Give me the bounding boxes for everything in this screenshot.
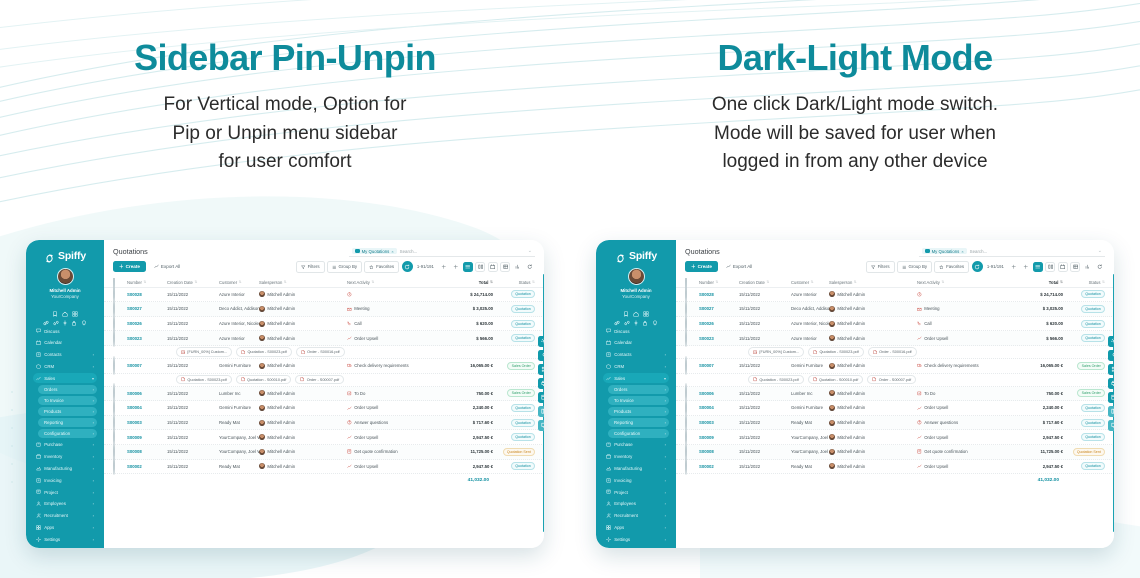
table-row[interactable]: S0000815/11/2022YourCompany, Joel Willis… — [676, 445, 1114, 460]
row-checkbox[interactable] — [113, 357, 127, 375]
cell-salesperson: Mitchell Admin — [829, 363, 917, 369]
table-row[interactable]: S0000715/11/2022Gemini FurnitureMitchell… — [676, 359, 1114, 374]
sidebar-item-settings[interactable]: Settings› — [33, 534, 97, 544]
bulb-icon[interactable] — [652, 313, 658, 319]
sidebar-item-orders[interactable]: Orders› — [38, 385, 97, 394]
table-row[interactable]: S0000415/11/2022Gemini FurnitureMitchell… — [676, 401, 1114, 416]
search-circle-icon-button[interactable] — [1108, 350, 1114, 361]
pivot-view-button[interactable] — [500, 262, 510, 272]
attachment-chip[interactable]: Order - S00007.pdf — [295, 375, 344, 385]
inventory-icon — [36, 454, 41, 459]
sidebar-item-label: Apps — [614, 525, 661, 530]
quick-icons-row-1[interactable] — [31, 304, 99, 310]
sidebar-item-label: Configuration — [44, 431, 90, 436]
cell-number[interactable]: S00004 — [127, 405, 167, 410]
sidebar-item-sales[interactable]: Sales▾ — [33, 373, 97, 383]
sidebar-item-employees[interactable]: Employees› — [33, 499, 97, 509]
floating-toolbar[interactable] — [1108, 336, 1114, 431]
status-badge: Quotation — [511, 462, 535, 470]
cell-number[interactable]: S00004 — [699, 405, 739, 410]
sidebar-item-label: Settings — [44, 537, 89, 542]
search-bar[interactable]: My Quotations×Search...⌄ — [919, 246, 1105, 257]
home-icon[interactable] — [633, 304, 639, 310]
floating-toolbar[interactable] — [538, 336, 544, 431]
cell-status: Quotation — [493, 305, 535, 313]
graph-view-button[interactable] — [1083, 262, 1093, 272]
home-icon[interactable] — [62, 304, 68, 310]
column-header-salesperson[interactable]: Salesperson⇅ — [259, 280, 347, 285]
sidebar-item-recruitment[interactable]: Recruitment› — [603, 511, 669, 521]
grid-icon[interactable] — [643, 304, 649, 310]
layout-icon-button[interactable] — [538, 406, 544, 417]
attachment-chip[interactable]: Quotation - S00023.pdf — [176, 375, 232, 385]
pager-next-button[interactable] — [451, 262, 461, 272]
cell-number[interactable]: S00027 — [699, 306, 739, 311]
column-header-creation-date[interactable]: Creation Date⇅ — [167, 280, 219, 285]
calendar-view-button[interactable] — [1058, 262, 1068, 272]
attachment-chip[interactable]: Quotation - S00010.pdf — [236, 375, 292, 385]
cell-number[interactable]: S00009 — [699, 435, 739, 440]
crm-icon — [606, 364, 611, 369]
cell-next-activity[interactable]: Order Upsell — [917, 464, 1007, 469]
table-row[interactable]: S0002315/11/2022Azure InteriorMitchell A… — [104, 331, 544, 346]
sidebar-item-invoicing[interactable]: Invoicing› — [603, 475, 669, 485]
status-badge: Sales Order — [1077, 389, 1105, 397]
view-tools[interactable]: FiltersGroup ByFavorites1-91/191 — [866, 261, 1105, 273]
sidebar-item-reporting[interactable]: Reporting› — [608, 418, 669, 427]
pager-prev-button[interactable] — [1008, 262, 1018, 272]
search-bar[interactable]: My Quotations×Search...⌄ — [349, 246, 535, 257]
app-screenshot-left[interactable]: SpiffyMitchell AdminYourCompanyDiscussCa… — [26, 240, 544, 548]
cell-customer: Gemini Furniture — [219, 405, 259, 410]
close-icon[interactable]: × — [391, 249, 393, 254]
cell-number[interactable]: S00008 — [699, 449, 739, 454]
cell-next-activity[interactable]: Order Upsell — [917, 405, 1007, 410]
project-icon — [606, 489, 611, 494]
table-row[interactable]: S0000915/11/2022YourCompany, Joel Willis… — [676, 430, 1114, 445]
chevron-right-icon: › — [93, 454, 94, 459]
sidebar-item-label: Products — [44, 409, 90, 414]
pin-icon[interactable] — [62, 313, 68, 319]
chain-icon[interactable] — [624, 313, 630, 319]
bookmark-icon[interactable] — [623, 304, 629, 310]
cell-creation-date: 15/11/2022 — [167, 391, 219, 396]
sidebar-item-inventory[interactable]: Inventory› — [603, 452, 669, 462]
avatar — [829, 321, 835, 327]
table-row[interactable]: S0002715/11/2022Deco Addict, Addison Ols… — [676, 302, 1114, 317]
attachment-chip[interactable]: Quotation - S00010.pdf — [808, 375, 864, 385]
sidebar-item-purchase[interactable]: Purchase› — [603, 440, 669, 450]
sort-icon: ⇅ — [766, 280, 769, 284]
cell-number[interactable]: S00007 — [699, 363, 739, 368]
pager-prev-button[interactable] — [438, 262, 448, 272]
column-header-customer[interactable]: Customer⇅ — [219, 280, 259, 285]
sidebar-menu[interactable]: DiscussCalendarContacts›CRM›Sales▾Orders… — [601, 326, 671, 544]
attachment-chip[interactable]: Quotation - S00023.pdf — [236, 347, 292, 357]
chevron-down-icon[interactable]: ⌄ — [1098, 248, 1102, 254]
cell-next-activity[interactable]: Call — [347, 321, 437, 326]
cell-next-activity[interactable] — [347, 292, 437, 297]
chevron-right-icon: › — [93, 398, 94, 403]
cell-next-activity[interactable]: Order Upsell — [347, 435, 437, 440]
cell-number[interactable]: S00003 — [699, 420, 739, 425]
cell-next-activity[interactable]: Order Upsell — [347, 336, 437, 341]
apps-grid-icon-button[interactable] — [1108, 364, 1114, 375]
avatar — [259, 321, 265, 327]
cell-status: Quotation — [493, 334, 535, 342]
column-header-creation-date[interactable]: Creation Date⇅ — [739, 280, 791, 285]
cell-total: 2,947.50 € — [437, 435, 493, 440]
column-header-customer[interactable]: Customer⇅ — [791, 280, 829, 285]
sidebar-item-crm[interactable]: CRM› — [33, 362, 97, 372]
create-button[interactable]: ＋Create — [113, 261, 146, 272]
view-tools[interactable]: FiltersGroup ByFavorites1-91/191 — [296, 261, 535, 273]
layout-icon-button[interactable] — [1108, 406, 1114, 417]
refresh-button[interactable] — [972, 261, 983, 272]
plus-icon: ＋ — [691, 264, 696, 270]
cell-next-activity[interactable]: Order Upsell — [917, 435, 1007, 440]
cell-next-activity[interactable]: Answer questions — [347, 420, 437, 425]
activity-view-button[interactable] — [1095, 262, 1105, 272]
export-all-button[interactable]: Export All — [150, 262, 184, 272]
table-footer-total-row: 41,032.00 — [104, 474, 544, 486]
table-header-row: Number⇅Creation Date⇅Customer⇅Salesperso… — [104, 278, 544, 288]
quick-icons-row-1[interactable] — [601, 304, 671, 310]
sidebar-item-products[interactable]: Products› — [608, 407, 669, 416]
lock-icon[interactable] — [642, 313, 648, 319]
sidebar-item-configuration[interactable]: Configuration› — [38, 429, 97, 438]
attachment-chip[interactable]: Order - S00007.pdf — [867, 375, 916, 385]
column-header-number[interactable]: Number⇅ — [699, 280, 739, 285]
chevron-right-icon: › — [93, 478, 94, 483]
manufacturing-icon — [606, 466, 611, 471]
chevron-right-icon: › — [93, 525, 94, 530]
sort-icon: ⇅ — [811, 280, 814, 284]
avatar — [829, 405, 835, 411]
sidebar-item-project[interactable]: Project› — [603, 487, 669, 497]
search-input[interactable]: Search... — [970, 249, 988, 254]
close-icon[interactable]: × — [961, 249, 963, 254]
table-row[interactable]: S0000415/11/2022Gemini FurnitureMitchell… — [104, 401, 544, 416]
spiffy-logo-icon — [44, 251, 55, 262]
settings-gear-icon-button[interactable] — [538, 336, 544, 347]
bulb-icon[interactable] — [81, 313, 87, 319]
app-screenshot-right[interactable]: SpiffyMitchell AdminYourCompanyDiscussCa… — [596, 240, 1114, 548]
status-badge: Quotation — [511, 404, 535, 412]
cell-next-activity[interactable]: Call — [917, 321, 1007, 326]
refresh-button[interactable] — [402, 261, 413, 272]
sidebar-item-to-invoice[interactable]: To Invoice› — [608, 396, 669, 405]
attachment-chip[interactable]: Quotation - S00023.pdf — [748, 375, 804, 385]
cell-next-activity[interactable]: Answer questions — [917, 420, 1007, 425]
create-button[interactable]: ＋Create — [685, 261, 718, 272]
link-icon[interactable] — [614, 313, 620, 319]
table-row[interactable]: S0002315/11/2022Azure InteriorMitchell A… — [676, 331, 1114, 346]
group-by-button[interactable]: Group By — [897, 261, 932, 273]
cell-number[interactable]: S00002 — [699, 464, 739, 469]
sidebar-item-configuration[interactable]: Configuration› — [608, 429, 669, 438]
cell-next-activity[interactable]: Check delivery requirements — [917, 363, 1007, 368]
cell-number[interactable]: S00026 — [699, 321, 739, 326]
cell-total: 11,725.00 € — [1007, 449, 1063, 454]
cell-next-activity[interactable]: Check delivery requirements — [347, 363, 437, 368]
sidebar-item-to-invoice[interactable]: To Invoice› — [38, 396, 97, 405]
table-row[interactable]: S0002615/11/2022Azure Interior, Nicole F… — [104, 317, 544, 332]
table-row[interactable]: S0002815/11/2022Azure InteriorMitchell A… — [676, 288, 1114, 303]
sidebar-item-label: Employees — [44, 501, 89, 506]
column-header-total[interactable]: Total⇅ — [1007, 280, 1063, 285]
quick-icons-row-2[interactable] — [31, 313, 99, 319]
pdf-icon — [813, 377, 817, 381]
cell-number[interactable]: S00026 — [127, 321, 167, 326]
window-icon-button[interactable] — [538, 392, 544, 403]
grid-icon[interactable] — [72, 304, 78, 310]
sidebar-item-purchase[interactable]: Purchase› — [33, 440, 97, 450]
filters-button[interactable]: Filters — [296, 261, 325, 273]
cell-customer: Gemini Furniture — [791, 363, 829, 368]
cell-number[interactable]: S00002 — [127, 464, 167, 469]
row-checkbox[interactable] — [685, 329, 699, 347]
cell-creation-date: 15/11/2022 — [167, 405, 219, 410]
table-row[interactable]: S0000215/11/2022Ready MatMitchell AdminO… — [676, 460, 1114, 475]
cell-next-activity[interactable]: Meeting — [917, 306, 1007, 311]
row-checkbox[interactable] — [113, 329, 127, 347]
sidebar-item-sales[interactable]: Sales▾ — [603, 373, 669, 383]
create-button-label: Create — [698, 264, 712, 269]
table-row[interactable]: S0000815/11/2022YourCompany, Joel Willis… — [104, 445, 544, 460]
kanban-view-button[interactable] — [1045, 262, 1055, 272]
quick-icons-row-2[interactable] — [601, 313, 671, 319]
column-header-total[interactable]: Total⇅ — [437, 280, 493, 285]
control-panel-actions: ＋CreateExport AllFiltersGroup ByFavorite… — [676, 257, 1114, 278]
cell-number[interactable]: S00006 — [127, 391, 167, 396]
sidebar-menu[interactable]: DiscussCalendarContacts›CRM›Sales▾Orders… — [31, 326, 99, 544]
control-panel-top: QuotationsMy Quotations×Search...⌄ — [104, 240, 544, 257]
cell-total: 2,947.50 € — [1007, 464, 1063, 469]
column-header-salesperson[interactable]: Salesperson⇅ — [829, 280, 917, 285]
graph-view-button[interactable] — [513, 262, 523, 272]
link-icon[interactable] — [43, 313, 49, 319]
table-row[interactable]: S0000715/11/2022Gemini FurnitureMitchell… — [104, 359, 544, 374]
sidebar-item-crm[interactable]: CRM› — [603, 362, 669, 372]
sidebar-item-label: Project — [614, 490, 661, 495]
sidebar-item-settings[interactable]: Settings› — [603, 534, 669, 544]
status-badge: Quotation — [1081, 320, 1105, 328]
cell-customer: Gemini Furniture — [791, 405, 829, 410]
chat-icon — [36, 328, 41, 333]
sidebar-item-discuss[interactable]: Discuss — [603, 326, 669, 336]
attachment-chip[interactable]: Order - S00016.pdf — [868, 347, 917, 357]
pin-icon[interactable] — [633, 313, 639, 319]
bookmark-icon[interactable] — [52, 304, 58, 310]
sidebar-item-label: Project — [44, 490, 89, 495]
row-checkbox[interactable] — [113, 457, 127, 475]
search-facet-label: My Quotations — [932, 249, 960, 254]
cell-next-activity[interactable]: To Do — [917, 391, 1007, 396]
cell-salesperson: Mitchell Admin — [829, 390, 917, 396]
cell-next-activity[interactable]: Order Upsell — [347, 405, 437, 410]
app-sidebar[interactable]: SpiffyMitchell AdminYourCompanyDiscussCa… — [596, 240, 676, 548]
cell-next-activity[interactable] — [917, 292, 1007, 297]
cell-number[interactable]: S00007 — [127, 363, 167, 368]
cell-number[interactable]: S00023 — [127, 336, 167, 341]
feature-title-right: Dark-Light Mode — [570, 38, 1140, 78]
chevron-right-icon: › — [93, 513, 94, 518]
favorites-button[interactable]: Favorites — [934, 261, 969, 273]
table-row[interactable]: S0002615/11/2022Azure Interior, Nicole F… — [676, 317, 1114, 332]
table-row[interactable]: S0000315/11/2022Ready MatMitchell AdminA… — [676, 416, 1114, 431]
column-header-status[interactable]: Status⇅ — [493, 280, 535, 285]
pager-label: 1-91/191 — [985, 264, 1006, 269]
filters-button[interactable]: Filters — [866, 261, 895, 273]
chain-icon[interactable] — [53, 313, 59, 319]
window-icon-button[interactable] — [1108, 392, 1114, 403]
calendar-icon — [36, 340, 41, 345]
attachment-row: Quotation - S00023.pdfQuotation - S00010… — [676, 374, 1114, 387]
sidebar-item-apps[interactable]: Apps› — [603, 523, 669, 533]
attachment-chip[interactable]: [FURN_00%] Custom... — [176, 347, 232, 357]
cell-creation-date: 15/11/2022 — [739, 435, 791, 440]
cell-number[interactable]: S00027 — [127, 306, 167, 311]
printer-icon-button[interactable] — [1108, 378, 1114, 389]
status-badge: Sales Order — [1077, 362, 1105, 370]
sidebar-item-label: Recruitment — [44, 513, 89, 518]
kanban-view-button[interactable] — [475, 262, 485, 272]
cell-creation-date: 15/11/2022 — [167, 321, 219, 326]
row-checkbox[interactable] — [685, 457, 699, 475]
monitor-icon-button[interactable] — [538, 420, 544, 431]
sidebar-item-recruitment[interactable]: Recruitment› — [33, 511, 97, 521]
cell-creation-date: 15/11/2022 — [167, 292, 219, 297]
calendar-view-button[interactable] — [488, 262, 498, 272]
cell-creation-date: 15/11/2022 — [739, 363, 791, 368]
sidebar-item-inventory[interactable]: Inventory› — [33, 452, 97, 462]
row-checkbox[interactable] — [685, 357, 699, 375]
chevron-right-icon: › — [665, 352, 666, 357]
table-row[interactable]: S0000615/11/2022Lumber IncMitchell Admin… — [676, 387, 1114, 402]
pdf-icon — [181, 377, 185, 381]
attachment-chip[interactable]: [FURN_00%] Custom... — [748, 347, 804, 357]
footer-total: 41,032.00 — [468, 478, 489, 483]
cell-next-activity[interactable]: Get quote confirmation — [917, 449, 1007, 454]
cell-salesperson: Mitchell Admin — [829, 306, 917, 312]
sidebar-item-label: Configuration — [614, 431, 662, 436]
activity-view-button[interactable] — [525, 262, 535, 272]
sidebar-item-calendar[interactable]: Calendar — [33, 338, 97, 348]
avatar[interactable] — [628, 268, 645, 285]
settings-gear-icon-button[interactable] — [1108, 336, 1114, 347]
cell-number[interactable]: S00003 — [127, 420, 167, 425]
table-row[interactable]: S0002815/11/2022Azure InteriorMitchell A… — [104, 288, 544, 303]
crm-icon — [36, 364, 41, 369]
sidebar-item-contacts[interactable]: Contacts› — [33, 350, 97, 360]
search-facet[interactable]: My Quotations× — [352, 248, 397, 254]
table-row[interactable]: S0002715/11/2022Deco Addict, Addison Ols… — [104, 302, 544, 317]
cell-next-activity[interactable]: Order Upsell — [347, 464, 437, 469]
table-row[interactable]: S0000215/11/2022Ready MatMitchell AdminO… — [104, 460, 544, 475]
attachment-chip[interactable]: Order - S00016.pdf — [296, 347, 345, 357]
search-input[interactable]: Search... — [400, 249, 418, 254]
page-title: Quotations — [685, 247, 720, 256]
control-panel-actions: ＋CreateExport AllFiltersGroup ByFavorite… — [104, 257, 544, 278]
lock-icon[interactable] — [71, 313, 77, 319]
column-header-status[interactable]: Status⇅ — [1063, 280, 1105, 285]
sidebar-item-calendar[interactable]: Calendar — [603, 338, 669, 348]
app-sidebar[interactable]: SpiffyMitchell AdminYourCompanyDiscussCa… — [26, 240, 104, 548]
sidebar-item-apps[interactable]: Apps› — [33, 523, 97, 533]
sidebar-item-project[interactable]: Project› — [33, 487, 97, 497]
tool-label: Favorites — [946, 264, 964, 269]
cell-number[interactable]: S00028 — [127, 292, 167, 297]
cell-number[interactable]: S00028 — [699, 292, 739, 297]
table-row[interactable]: S0000615/11/2022Lumber IncMitchell Admin… — [104, 387, 544, 402]
cell-number[interactable]: S00009 — [127, 435, 167, 440]
search-facet[interactable]: My Quotations× — [922, 248, 967, 254]
chevron-down-icon[interactable]: ⌄ — [528, 248, 532, 254]
quotations-table: Number⇅Creation Date⇅Customer⇅Salesperso… — [104, 278, 544, 548]
settings-icon — [606, 537, 611, 542]
list-view-button[interactable] — [1033, 262, 1043, 272]
sidebar-item-manufacturing[interactable]: Manufacturing› — [33, 464, 97, 474]
plus-icon: ＋ — [119, 264, 124, 270]
chevron-right-icon: › — [665, 478, 666, 483]
cell-number[interactable]: S00023 — [699, 336, 739, 341]
cell-next-activity[interactable]: Order Upsell — [917, 336, 1007, 341]
cell-total: 750.00 € — [1007, 391, 1063, 396]
sidebar-item-products[interactable]: Products› — [38, 407, 97, 416]
column-header-next-activity[interactable]: Next Activity⇅ — [347, 280, 437, 285]
search-circle-icon-button[interactable] — [538, 350, 544, 361]
sidebar-item-invoicing[interactable]: Invoicing› — [33, 475, 97, 485]
cell-next-activity[interactable]: Get quote confirmation — [347, 449, 437, 454]
monitor-icon-button[interactable] — [1108, 420, 1114, 431]
pivot-view-button[interactable] — [1070, 262, 1080, 272]
group-by-button[interactable]: Group By — [327, 261, 362, 273]
cell-salesperson: Mitchell Admin — [259, 420, 347, 426]
column-header-number[interactable]: Number⇅ — [127, 280, 167, 285]
table-row[interactable]: S0000315/11/2022Ready MatMitchell AdminA… — [104, 416, 544, 431]
list-view-button[interactable] — [463, 262, 473, 272]
sidebar-item-reporting[interactable]: Reporting› — [38, 418, 97, 427]
printer-icon-button[interactable] — [538, 378, 544, 389]
cell-next-activity[interactable]: Meeting — [347, 306, 437, 311]
cell-salesperson: Mitchell Admin — [829, 291, 917, 297]
avatar[interactable] — [57, 268, 74, 285]
cell-number[interactable]: S00006 — [699, 391, 739, 396]
calendar-icon — [606, 340, 611, 345]
sidebar-item-discuss[interactable]: Discuss — [33, 326, 97, 336]
pdf-icon — [241, 350, 245, 354]
favorites-button[interactable]: Favorites — [364, 261, 399, 273]
cell-next-activity[interactable]: To Do — [347, 391, 437, 396]
avatar — [259, 434, 265, 440]
sidebar-item-manufacturing[interactable]: Manufacturing› — [603, 464, 669, 474]
recruitment-icon — [606, 513, 611, 518]
sidebar-item-orders[interactable]: Orders› — [608, 385, 669, 394]
attachment-chip[interactable]: Quotation - S00023.pdf — [808, 347, 864, 357]
screenshot-cards-row: SpiffyMitchell AdminYourCompanyDiscussCa… — [0, 240, 1140, 578]
sidebar-item-contacts[interactable]: Contacts› — [603, 350, 669, 360]
sidebar-item-employees[interactable]: Employees› — [603, 499, 669, 509]
column-header-next-activity[interactable]: Next Activity⇅ — [917, 280, 1007, 285]
cell-number[interactable]: S00008 — [127, 449, 167, 454]
pager-next-button[interactable] — [1021, 262, 1031, 272]
apps-grid-icon-button[interactable] — [538, 364, 544, 375]
chevron-right-icon: › — [93, 442, 94, 447]
spiffy-logo-icon — [615, 251, 626, 262]
table-row[interactable]: S0000915/11/2022YourCompany, Joel Willis… — [104, 430, 544, 445]
export-all-button[interactable]: Export All — [722, 262, 756, 272]
